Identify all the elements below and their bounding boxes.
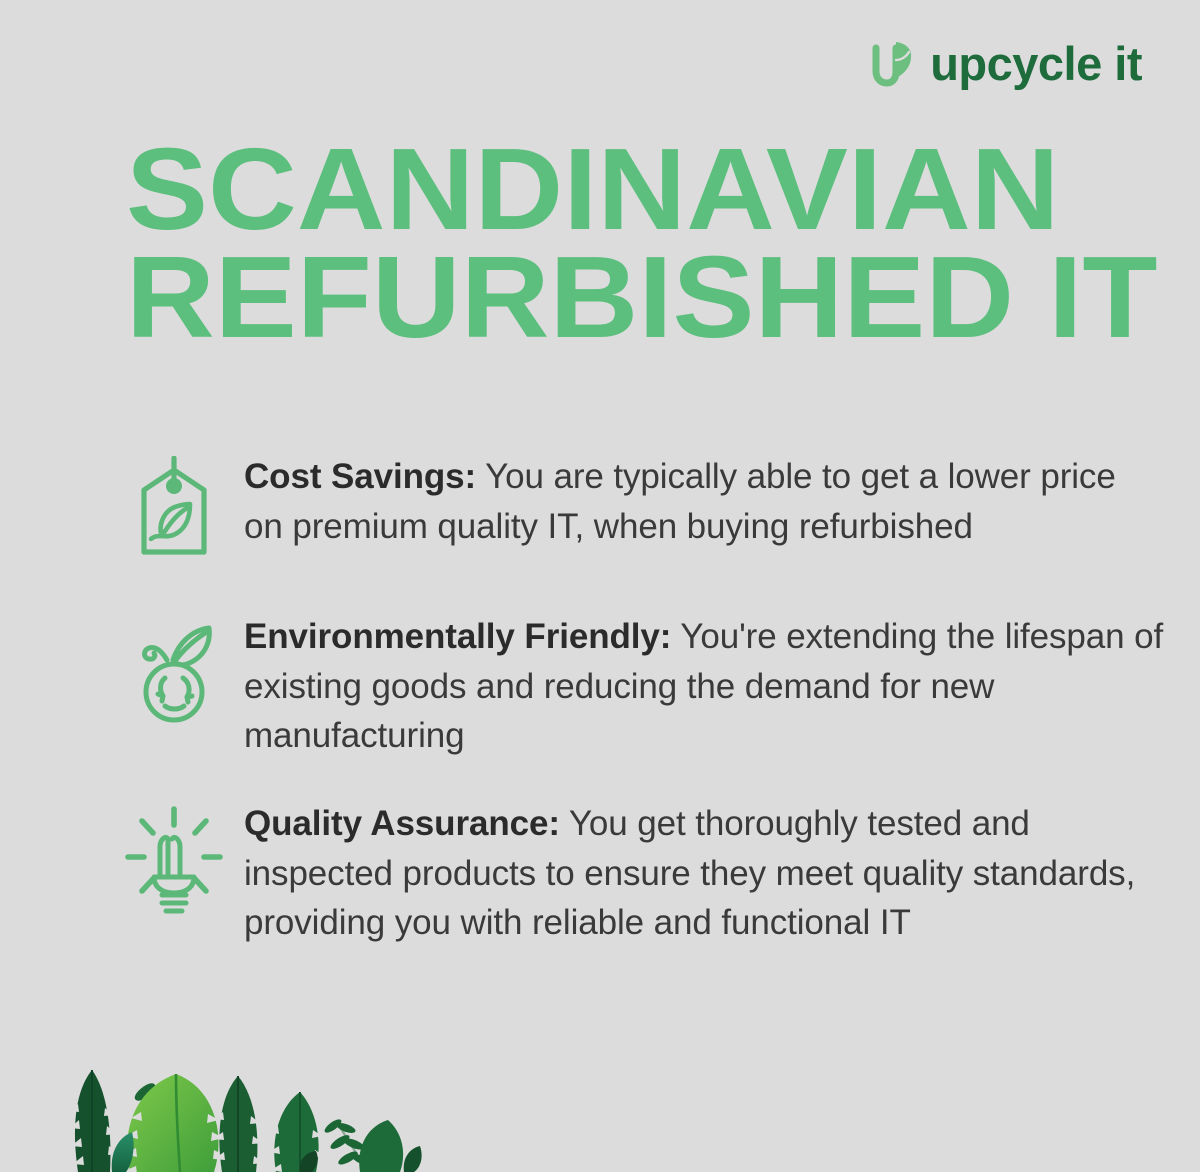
energy-saving-lightbulb-icon	[104, 799, 244, 915]
feature-text-quality-assurance: Quality Assurance: You get thoroughly te…	[244, 799, 1164, 948]
feature-text-cost-savings: Cost Savings: You are typically able to …	[244, 452, 1164, 551]
feature-title-environmentally-friendly: Environmentally Friendly:	[244, 617, 671, 656]
feature-item-environmentally-friendly: Environmentally Friendly: You're extendi…	[104, 612, 1164, 761]
feature-title-quality-assurance: Quality Assurance:	[244, 804, 560, 843]
poster-canvas: upcycle it SCANDINAVIAN REFURBISHED IT	[0, 0, 1200, 1172]
sprout-recycle-icon	[104, 612, 244, 726]
tropical-leaves-decoration	[0, 1012, 520, 1172]
feature-item-quality-assurance: Quality Assurance: You get thoroughly te…	[104, 799, 1164, 948]
upcycle-leaf-mark-icon	[870, 38, 916, 88]
brand-name: upcycle it	[930, 40, 1142, 87]
feature-item-cost-savings: Cost Savings: You are typically able to …	[104, 452, 1164, 560]
feature-text-environmentally-friendly: Environmentally Friendly: You're extendi…	[244, 612, 1164, 761]
headline-line-2: REFURBISHED IT	[126, 244, 1080, 352]
price-tag-leaf-icon	[104, 452, 244, 560]
brand-logo[interactable]: upcycle it	[870, 38, 1142, 88]
page-title: SCANDINAVIAN REFURBISHED IT	[126, 136, 1026, 352]
feature-list: Cost Savings: You are typically able to …	[104, 452, 1164, 948]
headline-line-1: SCANDINAVIAN	[126, 136, 1080, 244]
feature-title-cost-savings: Cost Savings:	[244, 457, 476, 496]
